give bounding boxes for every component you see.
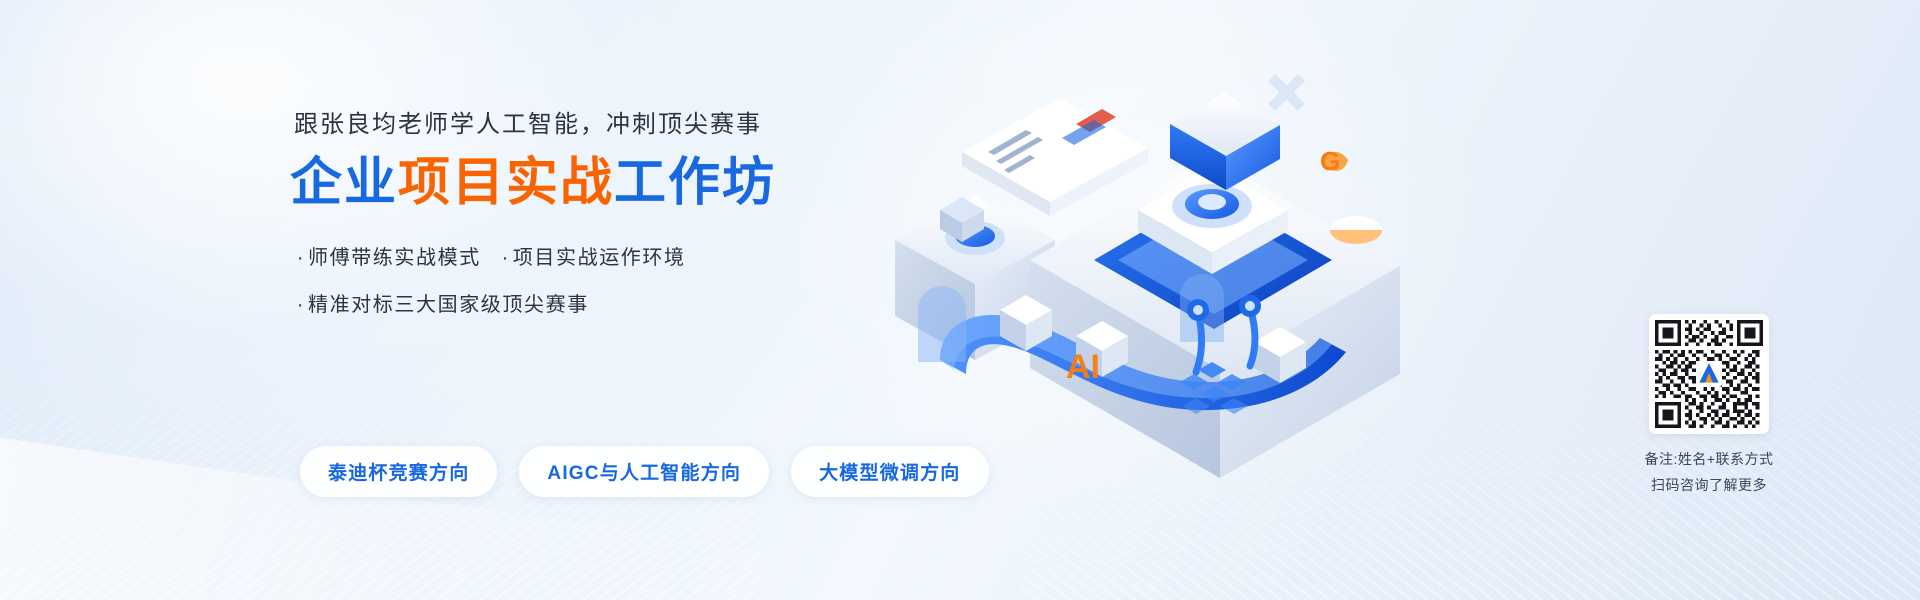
bullet-dot-icon: · xyxy=(294,295,308,315)
bullet-dot-icon: · xyxy=(499,248,513,268)
pill-track-1[interactable]: 泰迪杯竞赛方向 xyxy=(300,446,497,497)
pill-track-2[interactable]: AIGC与人工智能方向 xyxy=(519,446,769,497)
title-part-3: 工作坊 xyxy=(614,154,776,212)
qr-code[interactable] xyxy=(1649,314,1769,434)
feature-label: 项目实战运作环境 xyxy=(513,241,686,270)
qr-center-logo xyxy=(1696,361,1722,387)
banner-title: 企业项目实战工作坊 xyxy=(290,155,930,211)
list-item: · 师傅带练实战模式 xyxy=(294,241,481,270)
qr-caption: 备注:姓名+联系方式 扫码咨询了解更多 xyxy=(1643,447,1775,499)
course-track-pills: 泰迪杯竞赛方向 AIGC与人工智能方向 大模型微调方向 xyxy=(300,446,989,497)
qr-note-line-2: 扫码咨询了解更多 xyxy=(1643,473,1775,499)
promo-banner: G AI 跟张良均老师学人工智能，冲刺顶尖赛事 企业项目实战工作坊 · 师傅带练… xyxy=(0,0,1920,600)
qr-section: 备注:姓名+联系方式 扫码咨询了解更多 xyxy=(1643,314,1775,499)
list-item: · 精准对标三大国家级顶尖赛事 xyxy=(294,288,589,317)
feature-row-2: · 精准对标三大国家级顶尖赛事 xyxy=(294,288,930,317)
banner-copy: 跟张良均老师学人工智能，冲刺顶尖赛事 企业项目实战工作坊 · 师傅带练实战模式 … xyxy=(290,104,930,335)
banner-subtitle: 跟张良均老师学人工智能，冲刺顶尖赛事 xyxy=(294,104,930,139)
feature-list: · 师傅带练实战模式 · 项目实战运作环境 · 精准对标三大国家级顶尖赛事 xyxy=(290,241,930,317)
list-item: · 项目实战运作环境 xyxy=(499,241,686,270)
illustration-ai-label: AI xyxy=(1066,348,1100,386)
illustration-card-stack xyxy=(962,98,1148,216)
title-part-1: 企业 xyxy=(290,154,398,212)
svg-text:G: G xyxy=(1320,146,1340,176)
feature-label: 精准对标三大国家级顶尖赛事 xyxy=(308,288,589,317)
feature-row-1: · 师傅带练实战模式 · 项目实战运作环境 xyxy=(294,241,930,270)
pill-track-3[interactable]: 大模型微调方向 xyxy=(791,446,988,497)
bullet-dot-icon: · xyxy=(294,248,308,268)
qr-note-line-1: 备注:姓名+联系方式 xyxy=(1643,447,1775,473)
title-part-2: 项目实战 xyxy=(398,154,614,212)
feature-label: 师傅带练实战模式 xyxy=(308,241,481,270)
